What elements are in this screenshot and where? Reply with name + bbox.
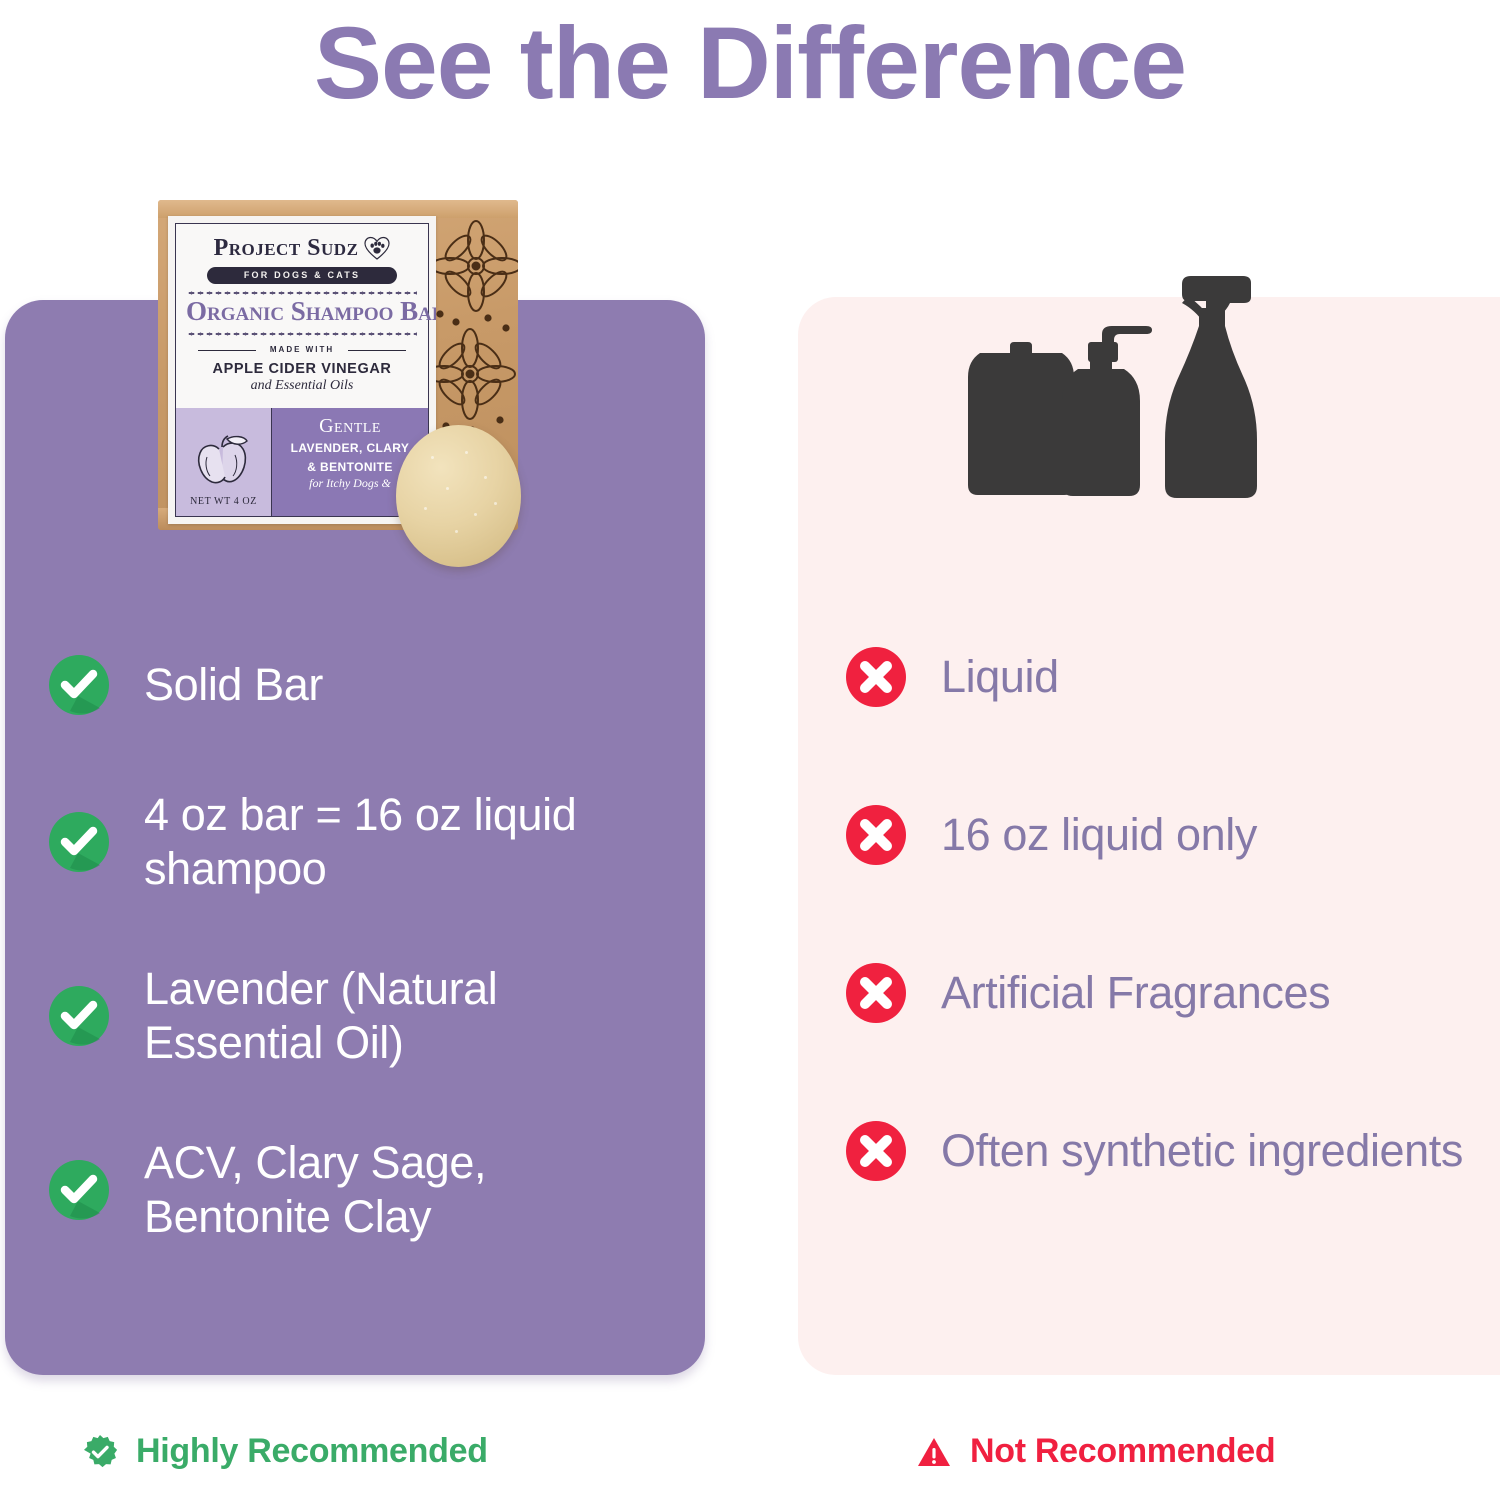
dotted-divider-top	[187, 291, 417, 295]
brand-name: Project Sudz	[214, 236, 359, 260]
x-circle-icon	[845, 1120, 907, 1182]
check-circle-icon	[48, 985, 110, 1047]
made-with-primary: APPLE CIDER VINEGAR	[186, 361, 418, 377]
variant-name: Gentle	[272, 416, 428, 436]
list-item: Solid Bar	[48, 648, 678, 722]
list-item-label: Liquid	[941, 650, 1059, 704]
x-circle-icon	[845, 646, 907, 708]
plain-bottle-icon	[968, 342, 1074, 495]
spray-bottle-body-icon	[1165, 326, 1257, 498]
warning-triangle-icon	[916, 1434, 952, 1470]
bad-footer-label: Not Recommended	[970, 1432, 1275, 1471]
list-item: Lavender (Natural Essential Oil)	[48, 962, 678, 1070]
made-with-secondary: and Essential Oils	[186, 378, 418, 394]
label-top-section: Project Sudz FOR DOGS & CATS	[176, 224, 428, 420]
verified-badge-icon	[82, 1434, 118, 1470]
check-circle-icon	[48, 1159, 110, 1221]
label-border: Project Sudz FOR DOGS & CATS	[175, 223, 429, 517]
list-item-label: 4 oz bar = 16 oz liquid shampoo	[144, 788, 678, 896]
net-weight: NET WT 4 OZ	[190, 496, 257, 507]
list-item-label: Solid Bar	[144, 658, 323, 712]
product-package-image: Project Sudz FOR DOGS & CATS	[150, 192, 535, 577]
good-footer-label: Highly Recommended	[136, 1432, 488, 1471]
bad-feature-list: Liquid 16 oz liquid only Artificial Frag…	[845, 640, 1495, 1188]
product-label: Project Sudz FOR DOGS & CATS	[168, 216, 436, 524]
apple-illustration-icon	[189, 433, 259, 491]
x-circle-icon	[845, 804, 907, 866]
dotted-divider-bottom	[187, 332, 417, 336]
paw-heart-icon	[364, 236, 390, 260]
check-circle-icon	[48, 654, 110, 716]
list-item-label: 16 oz liquid only	[941, 808, 1257, 862]
list-item: 16 oz liquid only	[845, 798, 1495, 872]
good-feature-list: Solid Bar 4 oz bar = 16 oz liquid shampo…	[48, 648, 678, 1244]
spray-neck-icon	[1199, 308, 1225, 326]
bad-footer: Not Recommended	[916, 1432, 1275, 1471]
page-title: See the Difference	[0, 6, 1500, 120]
good-footer: Highly Recommended	[82, 1432, 488, 1471]
list-item: ACV, Clary Sage, Bentonite Clay	[48, 1136, 678, 1244]
list-item-label: Lavender (Natural Essential Oil)	[144, 962, 678, 1070]
list-item-label: Artificial Fragrances	[941, 966, 1330, 1020]
list-item: Liquid	[845, 640, 1495, 714]
label-bottom-section: NET WT 4 OZ Gentle LAVENDER, CLARY & BEN…	[176, 408, 428, 516]
list-item-label: Often synthetic ingredients	[941, 1124, 1463, 1178]
apple-illustration-box: NET WT 4 OZ	[176, 408, 272, 516]
bottles-group-icon	[952, 250, 1272, 525]
brand-row: Project Sudz	[186, 236, 418, 260]
list-item: Often synthetic ingredients	[845, 1114, 1495, 1188]
pump-nozzle-icon	[1102, 326, 1152, 346]
made-with-label: MADE WITH	[186, 345, 418, 354]
audience-badge: FOR DOGS & CATS	[207, 267, 397, 284]
liquid-bottle-silhouettes	[952, 250, 1272, 525]
comparison-infographic: See the Difference	[0, 0, 1500, 1488]
product-name: Organic Shampoo Bar	[186, 297, 418, 325]
list-item: Artificial Fragrances	[845, 956, 1495, 1030]
variant-ingredients-line1: LAVENDER, CLARY	[272, 441, 428, 455]
list-item-label: ACV, Clary Sage, Bentonite Clay	[144, 1136, 678, 1244]
pump-bottle-body-icon	[1062, 350, 1140, 496]
check-circle-icon	[48, 811, 110, 873]
soap-bar-disc	[396, 425, 521, 567]
x-circle-icon	[845, 962, 907, 1024]
list-item: 4 oz bar = 16 oz liquid shampoo	[48, 788, 678, 896]
